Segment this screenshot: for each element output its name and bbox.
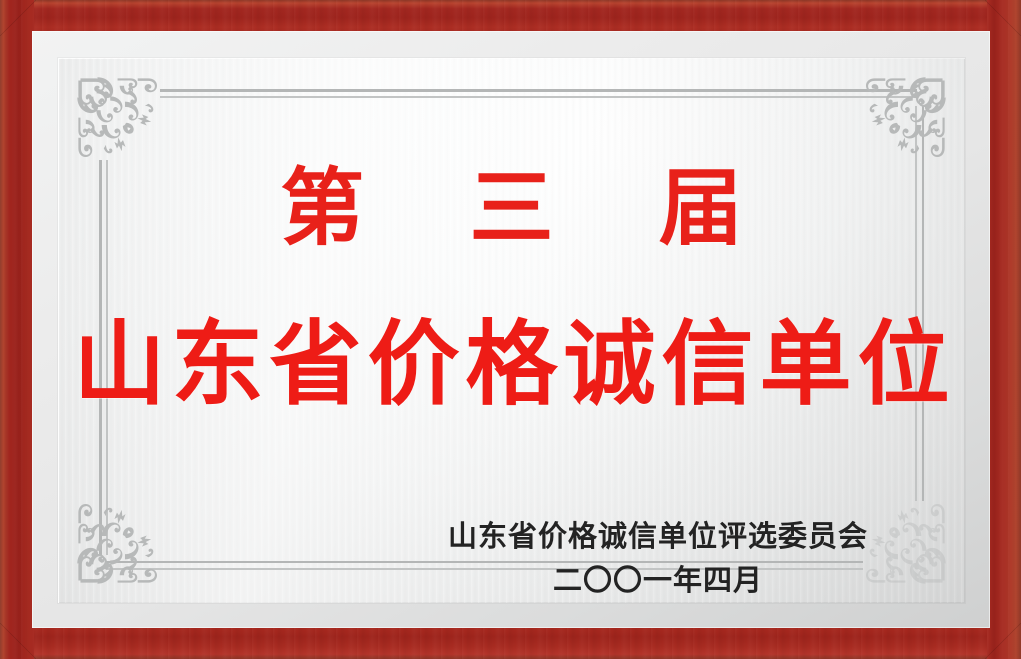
signature-block: 山东省价格诚信单位评选委员会 二〇〇一年四月 bbox=[443, 520, 873, 597]
frame-rail-left bbox=[0, 0, 34, 659]
inscription-area: 第 三 届 山东省价格诚信单位 山东省价格诚信单位评选委员会 二〇〇一年四月 bbox=[58, 58, 965, 603]
frame-rail-right bbox=[987, 0, 1021, 659]
border-rule-top-outer bbox=[160, 89, 917, 92]
plaque-outer-mat: 第 三 届 山东省价格诚信单位 山东省价格诚信单位评选委员会 二〇〇一年四月 bbox=[32, 31, 990, 628]
brushed-metal-texture bbox=[58, 58, 965, 603]
border-rule-right-outer bbox=[922, 106, 925, 501]
issue-date: 二〇〇一年四月 bbox=[443, 564, 873, 596]
award-name-title: 山东省价格诚信单位 bbox=[58, 318, 965, 410]
border-rule-bottom-outer bbox=[106, 561, 863, 564]
border-rule-bottom-inner bbox=[106, 568, 863, 570]
corner-flourish-icon-bottom-left bbox=[72, 483, 178, 589]
award-plaque: 第 三 届 山东省价格诚信单位 山东省价格诚信单位评选委员会 二〇〇一年四月 bbox=[0, 0, 1021, 659]
corner-flourish-icon-top-right bbox=[845, 72, 951, 178]
award-edition-title: 第 三 届 bbox=[58, 166, 965, 250]
border-rule-left-outer bbox=[99, 160, 102, 555]
issuing-organization: 山东省价格诚信单位评选委员会 bbox=[443, 520, 873, 552]
corner-flourish-icon-top-left bbox=[72, 72, 178, 178]
border-rule-top-inner bbox=[160, 96, 917, 98]
frame-rail-bottom bbox=[0, 627, 1021, 659]
corner-flourish-icon-bottom-right bbox=[845, 483, 951, 589]
metal-sheen-gradient bbox=[58, 58, 965, 603]
border-rule-left-inner bbox=[106, 160, 108, 555]
plaque-inner-plate: 第 三 届 山东省价格诚信单位 山东省价格诚信单位评选委员会 二〇〇一年四月 bbox=[58, 58, 965, 603]
frame-rail-top bbox=[0, 0, 1021, 34]
border-rule-right-inner bbox=[915, 106, 917, 501]
